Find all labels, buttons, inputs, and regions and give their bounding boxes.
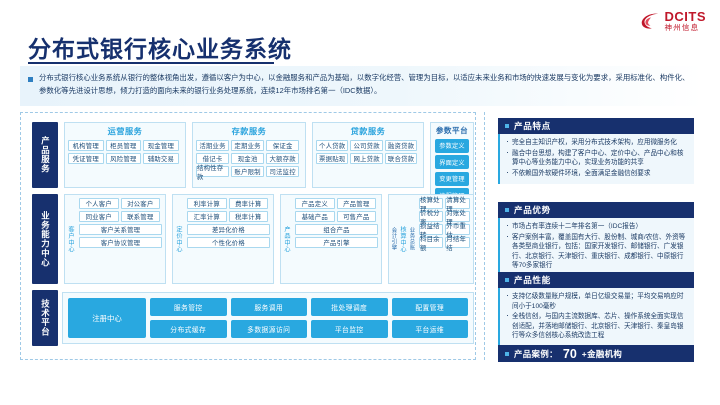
brand-text: DCITS 神州信息 [665, 10, 707, 32]
info-list-item: 支持亿级数量账户规模，单日亿级交易量；平均交易响应时间小于100毫秒 [506, 292, 688, 311]
capability-cell[interactable]: 联合贷款 [385, 153, 417, 164]
tech-registry-center[interactable]: 注册中心 [68, 298, 146, 338]
square-bullet-icon [505, 352, 509, 356]
group-loan-service[interactable]: 贷款服务 个人贷款公司贷款融资贷款票据贴现网上贷款联合贷款 [312, 122, 424, 188]
info-panel-title: 产品特点 [514, 120, 551, 132]
capability-cell[interactable]: 凭证管理 [68, 153, 104, 164]
capability-cell[interactable]: 网上贷款 [350, 153, 382, 164]
accounting-sublabels: 会计引擎 [389, 195, 398, 283]
info-panel-header: 产品性能 [498, 272, 694, 288]
capability-cell[interactable]: 结构性存款 [196, 166, 229, 177]
info-list-item: 市场占有率连续十二年排名第一（IDC报告） [506, 222, 688, 232]
dcits-swoosh-icon [639, 10, 661, 32]
band-capability-center-label: 业务能力中心 [40, 211, 51, 267]
capability-cell[interactable]: 客户协议管理 [79, 237, 162, 248]
capability-cell[interactable]: 费率计算 [229, 198, 269, 209]
band-tech-platform-label: 技术平台 [40, 299, 51, 337]
info-panel: 产品优势市场占有率连续十二年排名第一（IDC报告）客户案例丰富，覆盖国有大行、股… [498, 202, 694, 277]
group-customer-center[interactable]: 客户中心 个人客户对公客户同业客户联系管理客户关系管理客户协议管理 [64, 194, 166, 284]
group-loan-cells: 个人贷款公司贷款融资贷款票据贴现网上贷款联合贷款 [313, 137, 423, 167]
capability-cell[interactable]: 产品管理 [337, 198, 377, 209]
group-accounting-cells: 核算处理清算处理价税分离对账处理损益结转外币重估科目余额月结年结 [416, 195, 473, 283]
product-case-bar: 产品案例： 70 +金融机构 [498, 345, 694, 362]
group-deposit-cells: 活期业务定期业务保证金借记卡现金池大额存款结构性存款账户限制司法监控 [193, 137, 305, 180]
capability-cell[interactable]: 产品引擎 [295, 237, 378, 248]
group-operation-cells: 机构管理柜员管理现金管理凭证管理风险管理辅助交易 [65, 137, 185, 167]
capability-cell[interactable]: 科目余额 [419, 237, 443, 248]
capability-cell[interactable]: 柜员管理 [106, 140, 142, 151]
product-case-suffix: +金融机构 [582, 348, 622, 360]
capability-cell[interactable]: 风险管理 [106, 153, 142, 164]
page-title: 分布式银行核心业务系统 [28, 30, 292, 64]
group-customer-cells: 个人客户对公客户同业客户联系管理客户关系管理客户协议管理 [76, 195, 165, 283]
lead-paragraph-box: 分布式银行核心业务系统从银行的整体视角出发，遵循以客户为中心，以金融服务和产品为… [20, 66, 704, 106]
tech-button[interactable]: 分布式缓存 [150, 320, 227, 338]
info-panel-body: 支持亿级数量账户规模，单日亿级交易量；平均交易响应时间小于100毫秒全栈信创，与… [498, 288, 694, 347]
param-button[interactable]: 参数定义 [435, 139, 469, 153]
capability-cell[interactable]: 个人贷款 [316, 140, 348, 151]
capability-cell[interactable]: 组合产品 [295, 224, 378, 235]
group-deposit-title: 存款服务 [193, 123, 305, 137]
capability-cell[interactable]: 基础产品 [295, 211, 335, 222]
capability-cell[interactable]: 可售产品 [337, 211, 377, 222]
product-case-label: 产品案例： [514, 348, 558, 360]
tech-button[interactable]: 服务调用 [231, 298, 308, 316]
band-tech-platform: 技术平台 [32, 290, 58, 346]
band-product-service-label: 产品服务 [40, 136, 51, 174]
info-panel-header: 产品特点 [498, 118, 694, 134]
param-platform-title: 参数平台 [431, 123, 473, 136]
info-list-item: 全栈信创，与国内主流数据库、芯片、操作系统全面实现信创适配，并落地邮储银行、北京… [506, 312, 688, 341]
info-list-item: 融合中台思想，构建了客户中心、定价中心、产品中心和核算中心等业务能力中心，实现业… [506, 149, 688, 168]
pricing-center-vlabel: 定价中心 [173, 195, 184, 283]
group-operation-title: 运营服务 [65, 123, 185, 137]
square-bullet-icon [505, 208, 509, 212]
info-list-item: 不依赖国外软硬件环境，全面满足金融信创要求 [506, 169, 688, 179]
group-deposit-service[interactable]: 存款服务 活期业务定期业务保证金借记卡现金池大额存款结构性存款账户限制司法监控 [192, 122, 306, 188]
info-panel-body: 市场占有率连续十二年排名第一（IDC报告）客户案例丰富，覆盖国有大行、股份制、城… [498, 218, 694, 277]
capability-cell[interactable]: 定期业务 [231, 140, 264, 151]
param-button[interactable]: 变更管理 [435, 172, 469, 186]
capability-cell[interactable]: 差异化价格 [187, 224, 270, 235]
group-operation-service[interactable]: 运营服务 机构管理柜员管理现金管理凭证管理风险管理辅助交易 [64, 122, 186, 188]
tech-button[interactable]: 平台监控 [311, 320, 388, 338]
info-list-item: 客户案例丰富，覆盖国有大行、股份制、城商/农信、外资等各类型商业银行，包括：国家… [506, 233, 688, 271]
info-panel: 产品性能支持亿级数量账户规模，单日亿级交易量；平均交易响应时间小于100毫秒全栈… [498, 272, 694, 347]
brand-logo: DCITS 神州信息 [639, 10, 707, 32]
group-accounting-center[interactable]: 会计引擎 核算中心 业务总账 核算处理清算处理价税分离对账处理损益结转外币重估科… [388, 194, 474, 284]
capability-cell[interactable]: 公司贷款 [350, 140, 382, 151]
capability-cell[interactable]: 月结年结 [445, 237, 469, 248]
tech-button[interactable]: 批处理调度 [311, 298, 388, 316]
group-product-center[interactable]: 产品中心 产品定义产品管理基础产品可售产品组合产品产品引擎 [280, 194, 382, 284]
capability-cell[interactable]: 账户限制 [231, 166, 264, 177]
capability-cell[interactable]: 现金池 [231, 153, 264, 164]
capability-cell[interactable]: 联系管理 [121, 211, 161, 222]
capability-cell[interactable]: 个人客户 [79, 198, 119, 209]
capability-cell[interactable]: 税率计算 [229, 211, 269, 222]
capability-cell[interactable]: 保证金 [266, 140, 299, 151]
info-panel-title: 产品性能 [514, 274, 551, 286]
brand-cn: 神州信息 [665, 24, 707, 32]
info-panel: 产品特点完全自主知识产权，采用分布式技术架构，应用微服务化融合中台思想，构建了客… [498, 118, 694, 184]
capability-cell[interactable]: 现金管理 [143, 140, 179, 151]
accounting-sublabel-bottom: 业务总账 [409, 227, 415, 251]
customer-center-vlabel: 客户中心 [65, 195, 76, 283]
capability-cell[interactable]: 汇率计算 [187, 211, 227, 222]
band-capability-center: 业务能力中心 [32, 194, 58, 284]
param-button[interactable]: 界面定义 [435, 155, 469, 169]
title-underline [28, 62, 274, 64]
tech-button[interactable]: 配置管理 [392, 298, 469, 316]
product-center-vlabel: 产品中心 [281, 195, 292, 283]
capability-cell[interactable]: 活期业务 [196, 140, 229, 151]
info-panel-header: 产品优势 [498, 202, 694, 218]
capability-cell[interactable]: 机构管理 [68, 140, 104, 151]
group-pricing-cells: 利率计算费率计算汇率计算税率计算差异化价格个性化价格 [184, 195, 273, 283]
tech-platform-buttons: 服务管控服务调用批处理调度配置管理分布式缓存多数据源访问平台监控平台运维 [150, 298, 468, 338]
capability-cell[interactable]: 融资贷款 [385, 140, 417, 151]
group-product-cells: 产品定义产品管理基础产品可售产品组合产品产品引擎 [292, 195, 381, 283]
capability-cell[interactable]: 利率计算 [187, 198, 227, 209]
square-bullet-icon [505, 124, 509, 128]
brand-en: DCITS [665, 10, 707, 23]
product-case-number: 70 [563, 347, 577, 361]
lead-text: 分布式银行核心业务系统从银行的整体视角出发，遵循以客户为中心，以金融服务和产品为… [39, 72, 696, 106]
info-panel-body: 完全自主知识产权，采用分布式技术架构，应用微服务化融合中台思想，构建了客户中心、… [498, 134, 694, 184]
accounting-sublabel-top: 会计引擎 [391, 227, 397, 251]
capability-cell[interactable]: 客户关系管理 [79, 224, 162, 235]
capability-cell[interactable]: 同业客户 [79, 211, 119, 222]
accounting-center-vlabel: 核算中心 [398, 195, 407, 283]
accounting-sublabel-bottom-wrap: 业务总账 [407, 195, 416, 283]
band-product-service: 产品服务 [32, 122, 58, 188]
tech-button[interactable]: 平台运维 [392, 320, 469, 338]
info-list-item: 完全自主知识产权，采用分布式技术架构，应用微服务化 [506, 138, 688, 148]
square-bullet-icon [505, 278, 509, 282]
tech-button[interactable]: 服务管控 [150, 298, 227, 316]
info-panel-title: 产品优势 [514, 204, 551, 216]
tech-button[interactable]: 多数据源访问 [231, 320, 308, 338]
capability-cell[interactable]: 个性化价格 [187, 237, 270, 248]
group-pricing-center[interactable]: 定价中心 利率计算费率计算汇率计算税率计算差异化价格个性化价格 [172, 194, 274, 284]
capability-cell[interactable]: 大额存款 [266, 153, 299, 164]
capability-cell[interactable]: 产品定义 [295, 198, 335, 209]
capability-cell[interactable]: 辅助交易 [143, 153, 179, 164]
capability-cell[interactable]: 票据贴现 [316, 153, 348, 164]
group-loan-title: 贷款服务 [313, 123, 423, 137]
tech-platform-panel[interactable]: 注册中心 服务管控服务调用批处理调度配置管理分布式缓存多数据源访问平台监控平台运… [62, 292, 474, 344]
capability-cell[interactable]: 对公客户 [121, 198, 161, 209]
capability-cell[interactable]: 司法监控 [266, 166, 299, 177]
square-bullet-icon [28, 77, 33, 82]
